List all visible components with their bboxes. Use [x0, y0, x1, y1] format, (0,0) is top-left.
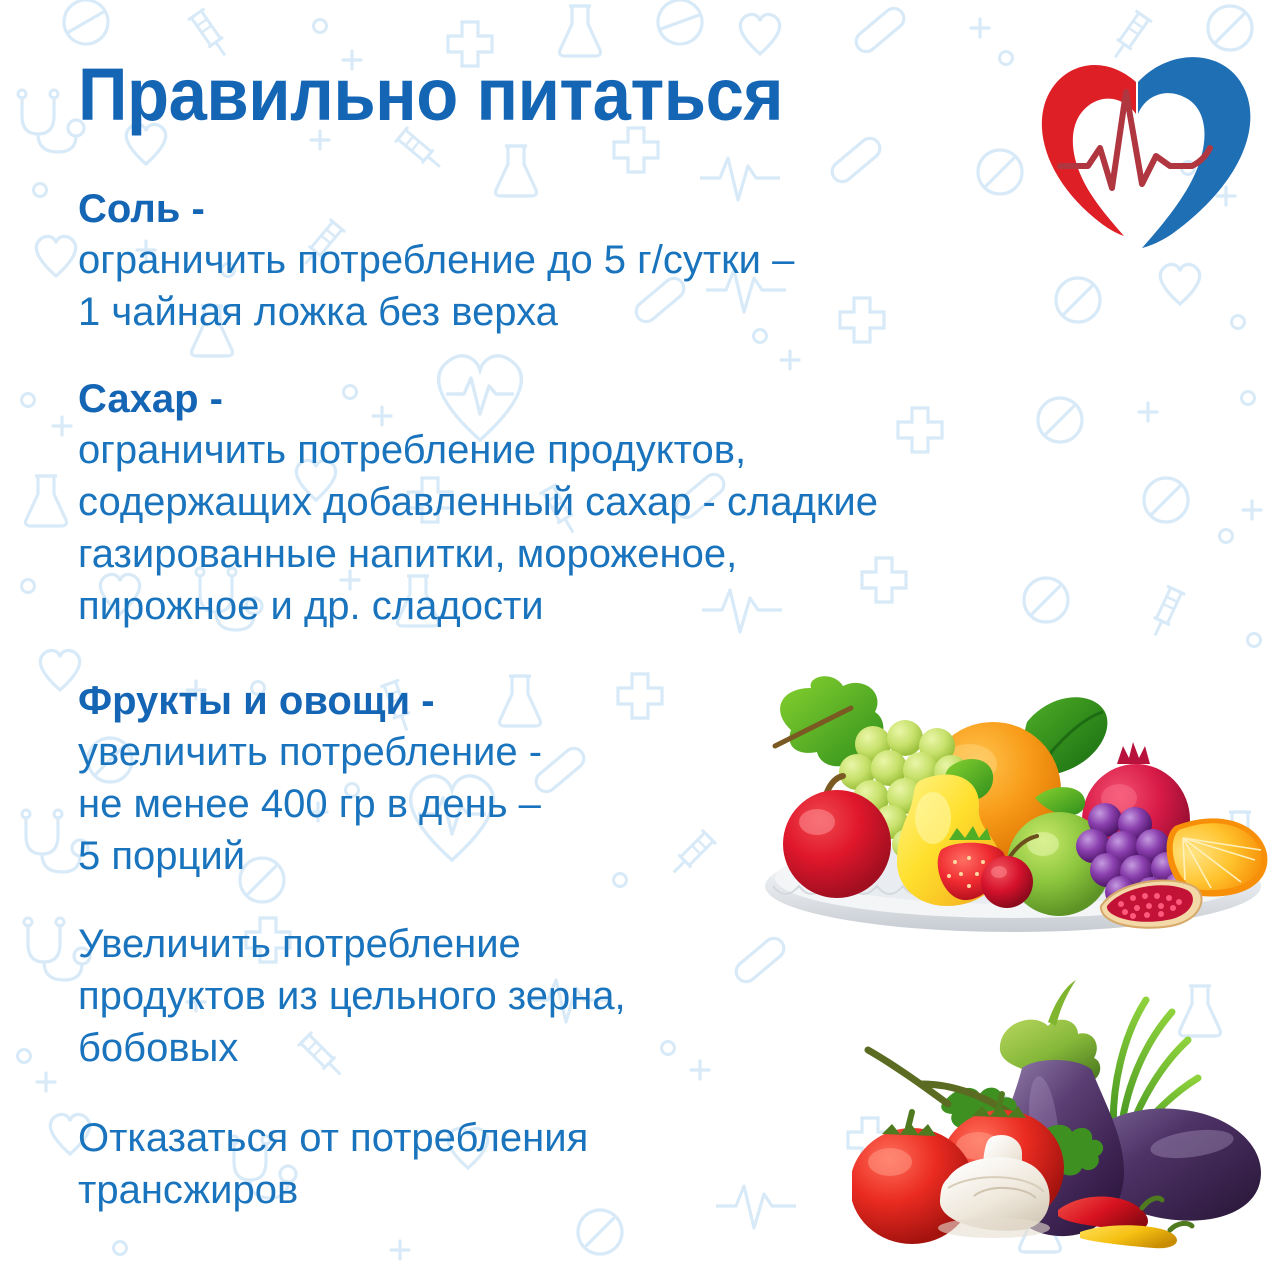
section-fruits-line-2: не менее 400 гр в день – [78, 778, 542, 830]
section-trans-line-2: трансжиров [78, 1164, 588, 1216]
heart-ecg-logo [1030, 38, 1262, 253]
page-title: Правильно питаться [78, 58, 783, 132]
section-sugar-line-3: газированные напитки, мороженое, [78, 528, 878, 580]
section-fruits-line-3: 5 порций [78, 830, 542, 882]
section-salt-heading: Соль - [78, 184, 794, 234]
section-grain-line-2: продуктов из цельного зерна, [78, 970, 626, 1022]
section-sugar-heading: Сахар - [78, 374, 878, 424]
section-salt-line-2: 1 чайная ложка без верха [78, 286, 794, 338]
section-sugar: Сахар - ограничить потребление продуктов… [78, 374, 878, 632]
section-grain-line-3: бобовых [78, 1022, 626, 1074]
section-sugar-line-2: содержащих добавленный сахар - сладкие [78, 476, 878, 528]
section-fruits-heading: Фрукты и овощи - [78, 676, 542, 726]
section-salt-line-1: ограничить потребление до 5 г/сутки – [78, 234, 794, 286]
nutrition-poster: Правильно питаться Соль - ограничить пот… [0, 0, 1280, 1280]
section-sugar-line-4: пирожное и др. сладости [78, 580, 878, 632]
section-sugar-line-1: ограничить потребление продуктов, [78, 424, 878, 476]
section-fruits-vegetables: Фрукты и овощи - увеличить потребление -… [78, 676, 542, 882]
section-grain-line-1: Увеличить потребление [78, 918, 626, 970]
section-trans-fats: Отказаться от потребления трансжиров [78, 1112, 588, 1216]
section-whole-grain: Увеличить потребление продуктов из цельн… [78, 918, 626, 1074]
section-trans-line-1: Отказаться от потребления [78, 1112, 588, 1164]
section-salt: Соль - ограничить потребление до 5 г/сут… [78, 184, 794, 338]
section-fruits-line-1: увеличить потребление - [78, 726, 542, 778]
